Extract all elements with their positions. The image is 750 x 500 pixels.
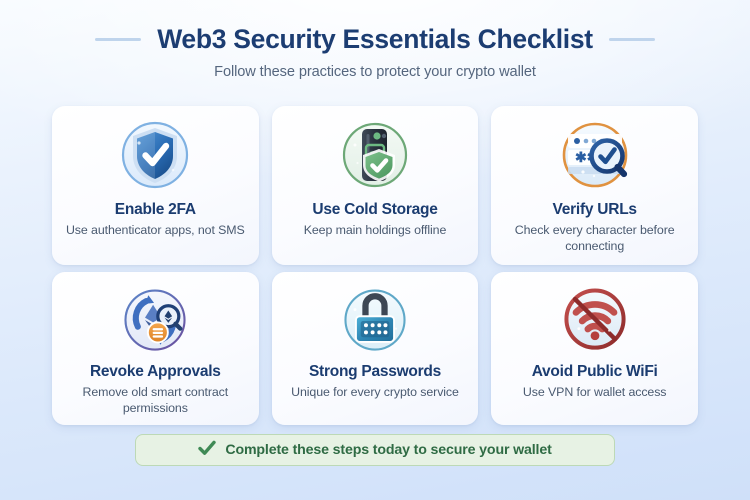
page-title: Web3 Security Essentials Checklist [157, 24, 593, 55]
check-mark-icon [198, 440, 216, 461]
checklist-grid: Enable 2FA Use authenticator apps, not S… [52, 106, 698, 425]
card-description: Check every character before connecting [502, 223, 688, 255]
padlock-keypad-icon [335, 281, 415, 361]
infographic-root: Web3 Security Essentials Checklist Follo… [0, 0, 750, 500]
card-title: Use Cold Storage [312, 201, 437, 219]
title-row: Web3 Security Essentials Checklist [0, 24, 750, 55]
card-title: Revoke Approvals [90, 363, 221, 381]
checklist-card-avoid-public-wifi[interactable]: Avoid Public WiFi Use VPN for wallet acc… [491, 272, 698, 425]
card-title: Enable 2FA [115, 201, 196, 219]
browser-magnifier-check-icon: ✱✱✱ [553, 115, 637, 199]
checklist-card-use-cold-storage[interactable]: Use Cold Storage Keep main holdings offl… [272, 106, 479, 265]
card-description: Use authenticator apps, not SMS [66, 223, 245, 239]
checklist-card-strong-passwords[interactable]: Strong Passwords Unique for every crypto… [272, 272, 479, 425]
footer-text: Complete these steps today to secure you… [225, 442, 551, 458]
checklist-card-enable-2fa[interactable]: Enable 2FA Use authenticator apps, not S… [52, 106, 259, 265]
card-description: Use VPN for wallet access [523, 385, 666, 401]
hardware-wallet-shield-icon [333, 115, 417, 199]
card-title: Verify URLs [553, 201, 637, 219]
page-subtitle: Follow these practices to protect your c… [0, 64, 750, 80]
card-description: Keep main holdings offline [304, 223, 447, 239]
card-title: Strong Passwords [309, 363, 441, 381]
footer-banner[interactable]: Complete these steps today to secure you… [135, 434, 615, 466]
revoke-approvals-icon [115, 281, 195, 361]
card-description: Remove old smart contract permissions [62, 385, 248, 417]
header: Web3 Security Essentials Checklist Follo… [0, 0, 750, 80]
checklist-card-verify-urls[interactable]: ✱✱✱ Verify URLs Check every character be… [491, 106, 698, 265]
decorative-rule-left-icon [95, 38, 141, 41]
decorative-rule-right-icon [609, 38, 655, 41]
card-title: Avoid Public WiFi [532, 363, 658, 381]
shield-check-icon [113, 115, 197, 199]
card-description: Unique for every crypto service [291, 385, 459, 401]
wifi-prohibited-icon [555, 281, 635, 361]
checklist-card-revoke-approvals[interactable]: Revoke Approvals Remove old smart contra… [52, 272, 259, 425]
